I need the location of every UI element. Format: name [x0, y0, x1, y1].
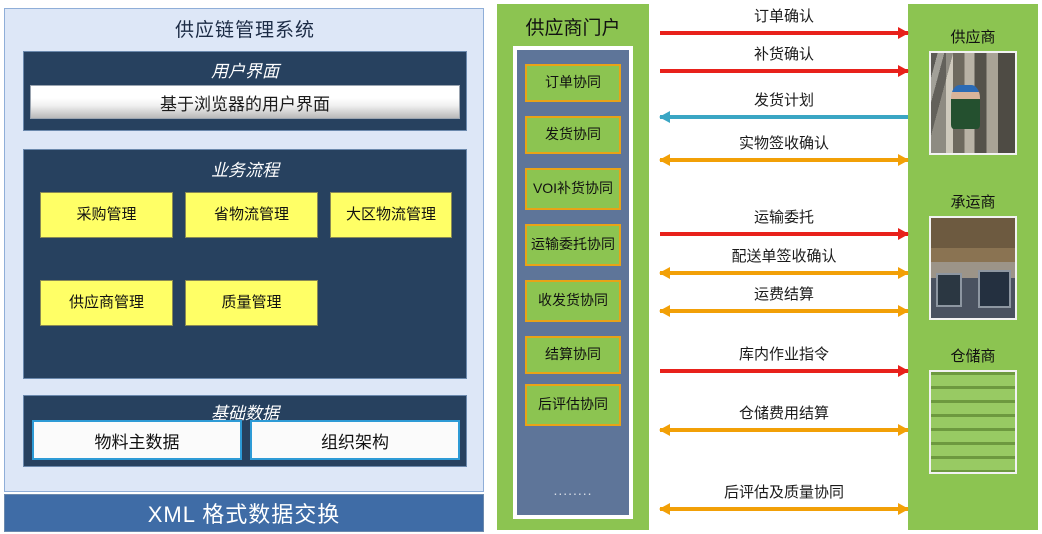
carrier-office-photo	[929, 216, 1017, 320]
partner-supplier-label: 供应商	[908, 26, 1038, 47]
flow-label-5: 运输委托	[660, 206, 908, 227]
warehouse-racking-photo	[929, 370, 1017, 474]
user-interface-block: 用户界面 基于浏览器的用户界面	[23, 51, 467, 131]
flow-label-8: 库内作业指令	[660, 343, 908, 364]
process-item-provincial-logistics[interactable]: 省物流管理	[185, 192, 318, 238]
flow-label-2: 补货确认	[660, 43, 908, 64]
arrowhead-left-icon	[659, 424, 670, 436]
flow-line-2	[660, 69, 908, 73]
arrowhead-left-icon	[659, 305, 670, 317]
scm-system-panel: 供应链管理系统 用户界面 基于浏览器的用户界面 业务流程 采购管理 省物流管理 …	[4, 8, 484, 492]
flow-label-7: 运费结算	[660, 283, 908, 304]
base-data-block: 基础数据 物料主数据 组织架构	[23, 395, 467, 467]
process-item-quality-management[interactable]: 质量管理	[185, 280, 318, 326]
xml-exchange-bar: XML 格式数据交换	[4, 494, 484, 532]
flow-line-6	[660, 271, 908, 275]
flow-line-5	[660, 232, 908, 236]
arrowhead-right-icon	[898, 65, 909, 77]
arrowhead-right-icon	[898, 154, 909, 166]
partner-carrier: 承运商	[908, 191, 1038, 320]
flow-label-10: 后评估及质量协同	[660, 481, 908, 502]
flow-line-4	[660, 158, 908, 162]
business-process-title: 业务流程	[24, 156, 466, 181]
flow-line-8	[660, 369, 908, 373]
arrowhead-left-icon	[659, 111, 670, 123]
flow-line-7	[660, 309, 908, 313]
portal-item-settlement-collaboration[interactable]: 结算协同	[525, 336, 621, 374]
arrowhead-right-icon	[898, 228, 909, 240]
flow-line-9	[660, 428, 908, 432]
arrowhead-right-icon	[898, 27, 909, 39]
arrowhead-right-icon	[898, 305, 909, 317]
arrowhead-left-icon	[659, 503, 670, 515]
arrowhead-right-icon	[898, 503, 909, 515]
portal-item-voi-replenishment-collaboration[interactable]: VOI补货协同	[525, 168, 621, 210]
flow-label-6: 配送单签收确认	[660, 245, 908, 266]
portal-item-post-evaluation-collaboration[interactable]: 后评估协同	[525, 384, 621, 426]
flow-line-3	[660, 115, 908, 119]
supplier-portal-title: 供应商门户	[497, 13, 649, 40]
arrowhead-right-icon	[898, 267, 909, 279]
portal-item-receipt-delivery-collaboration[interactable]: 收发货协同	[525, 280, 621, 322]
flow-label-4: 实物签收确认	[660, 132, 908, 153]
partner-supplier: 供应商	[908, 26, 1038, 155]
portal-item-transport-entrustment-collaboration[interactable]: 运输委托协同	[525, 224, 621, 266]
supplier-portal-list: 订单协同 发货协同 VOI补货协同 运输委托协同 收发货协同 结算协同 后评估协…	[513, 46, 633, 519]
portal-item-order-collaboration[interactable]: 订单协同	[525, 64, 621, 102]
partners-panel: 供应商 承运商 仓储商	[908, 4, 1038, 530]
supplier-portal-panel: 供应商门户 订单协同 发货协同 VOI补货协同 运输委托协同 收发货协同 结算协…	[497, 4, 649, 530]
flow-label-9: 仓储费用结算	[660, 402, 908, 423]
user-interface-title: 用户界面	[24, 57, 466, 82]
flow-line-10	[660, 507, 908, 511]
arrowhead-left-icon	[659, 154, 670, 166]
partner-warehouse-label: 仓储商	[908, 345, 1038, 366]
portal-ellipsis: ........	[517, 482, 629, 498]
flow-label-1: 订单确认	[660, 5, 908, 26]
base-item-org-structure[interactable]: 组织架构	[250, 420, 460, 460]
portal-item-shipment-collaboration[interactable]: 发货协同	[525, 116, 621, 154]
partner-carrier-label: 承运商	[908, 191, 1038, 212]
scm-system-title: 供应链管理系统	[5, 15, 485, 42]
arrowhead-left-icon	[659, 267, 670, 279]
process-item-purchasing[interactable]: 采购管理	[40, 192, 173, 238]
flow-line-1	[660, 31, 908, 35]
arrowhead-right-icon	[898, 424, 909, 436]
partner-warehouse: 仓储商	[908, 345, 1038, 474]
process-item-regional-logistics[interactable]: 大区物流管理	[330, 192, 452, 238]
business-process-block: 业务流程 采购管理 省物流管理 大区物流管理 供应商管理 质量管理 ......…	[23, 149, 467, 379]
supplier-factory-photo	[929, 51, 1017, 155]
arrowhead-right-icon	[898, 365, 909, 377]
browser-ui-item: 基于浏览器的用户界面	[30, 85, 460, 119]
flow-label-3: 发货计划	[660, 89, 908, 110]
base-item-material-master[interactable]: 物料主数据	[32, 420, 242, 460]
process-item-supplier-management[interactable]: 供应商管理	[40, 280, 173, 326]
